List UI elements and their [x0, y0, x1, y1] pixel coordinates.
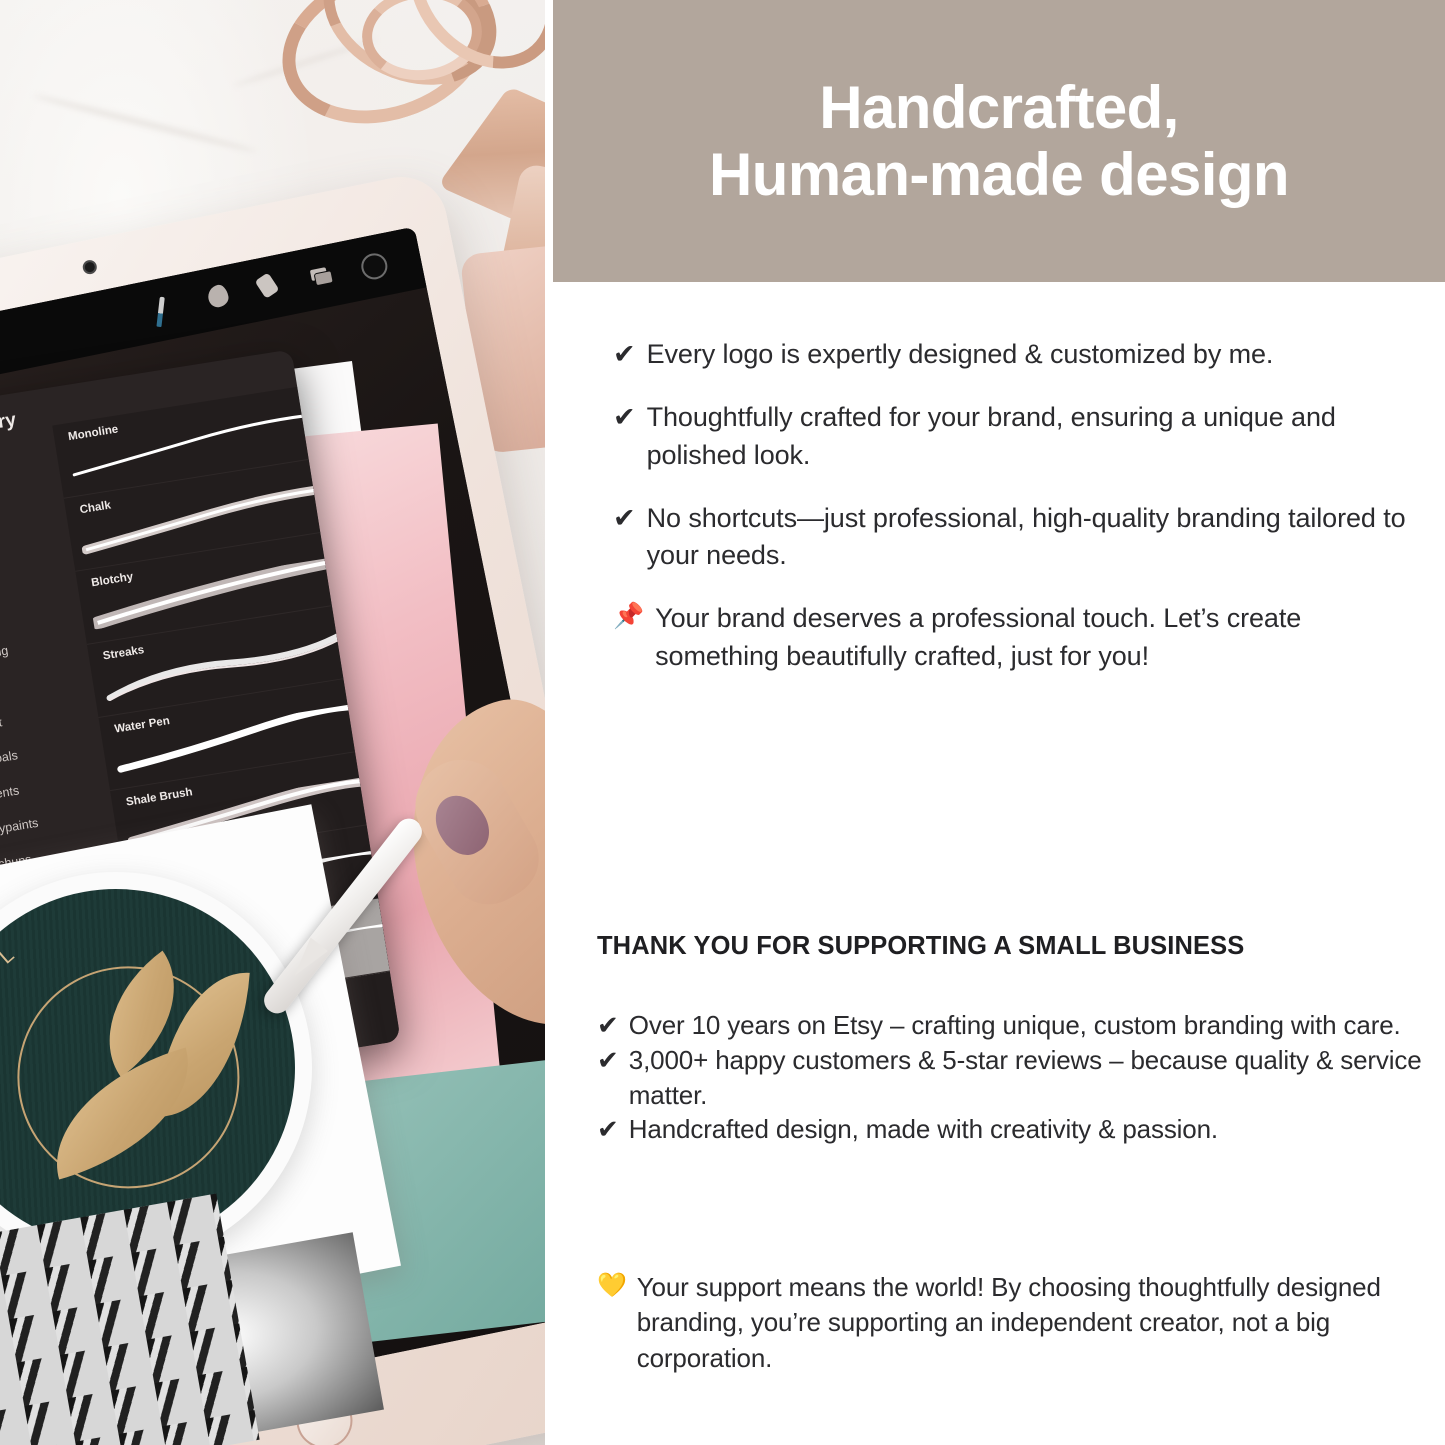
- check-icon: ✔: [613, 500, 636, 536]
- benefit-item: 📌Your brand deserves a professional touc…: [613, 600, 1413, 675]
- hero-line-2: Human-made design: [709, 141, 1289, 208]
- benefit-item: ✔No shortcuts—just professional, high-qu…: [613, 500, 1413, 575]
- credential-text: 3,000+ happy customers & 5-star reviews …: [629, 1043, 1427, 1113]
- brush-category-label: Elements: [0, 783, 20, 805]
- credential-item: ✔Handcrafted design, made with creativit…: [597, 1112, 1427, 1147]
- credentials-list: ✔Over 10 years on Etsy – crafting unique…: [597, 1008, 1427, 1147]
- benefits-list: ✔Every logo is expertly designed & custo…: [613, 336, 1413, 675]
- benefit-text: Your brand deserves a professional touch…: [655, 600, 1413, 675]
- marble-vein: [33, 92, 258, 154]
- listing-image: + Brush Library SketchingInkingCalligrap…: [0, 0, 1445, 1445]
- thanks-heading: THANK YOU FOR SUPPORTING A SMALL BUSINES…: [597, 932, 1427, 961]
- content-column: Handcrafted, Human-made design ✔Every lo…: [545, 0, 1445, 1445]
- layers-icon[interactable]: [309, 265, 335, 289]
- brush-category-label: Abstract: [0, 715, 3, 736]
- check-icon: ✔: [613, 336, 636, 372]
- brush-preset-label: Blotchy: [91, 571, 135, 589]
- benefit-text: Thoughtfully crafted for your brand, ens…: [647, 399, 1413, 474]
- benefit-item: ✔Thoughtfully crafted for your brand, en…: [613, 399, 1413, 474]
- spacer: [613, 474, 1413, 500]
- eraser-icon[interactable]: [257, 273, 284, 303]
- brush-category-label: Spraypaints: [0, 815, 39, 839]
- svg-text:MERAKI + BL: MERAKI + BL: [0, 937, 49, 1147]
- benefit-text: No shortcuts—just professional, high-qua…: [647, 500, 1413, 575]
- product-photo: + Brush Library SketchingInkingCalligrap…: [0, 0, 545, 1445]
- check-icon: ✔: [597, 1008, 619, 1043]
- hero-banner: Handcrafted, Human-made design: [553, 0, 1445, 282]
- yellow-heart-icon: 💛: [597, 1270, 627, 1302]
- hero-line-1: Handcrafted,: [819, 74, 1179, 141]
- smudge-icon[interactable]: [206, 283, 233, 313]
- spacer: [613, 373, 1413, 399]
- color-icon[interactable]: [359, 251, 390, 282]
- brush-preset-label: Monoline: [67, 423, 119, 443]
- credential-item: ✔3,000+ happy customers & 5-star reviews…: [597, 1043, 1427, 1113]
- credential-text: Over 10 years on Etsy – crafting unique,…: [629, 1008, 1401, 1043]
- spacer: [613, 574, 1413, 600]
- camera-icon: [82, 259, 99, 276]
- check-icon: ✔: [597, 1043, 619, 1078]
- check-icon: ✔: [613, 399, 636, 435]
- benefit-item: ✔Every logo is expertly designed & custo…: [613, 336, 1413, 373]
- brush-preset-label: Chalk: [79, 500, 112, 517]
- brush-icon[interactable]: [155, 293, 182, 323]
- brush-preset-label: Water Pen: [114, 715, 171, 736]
- brush-category-label: Airbrushing: [0, 643, 9, 667]
- credential-item: ✔Over 10 years on Etsy – crafting unique…: [597, 1008, 1427, 1043]
- body-content: ✔Every logo is expertly designed & custo…: [545, 282, 1445, 1445]
- brush-category-label: Charcoals: [0, 748, 19, 771]
- closing-paragraph: 💛 Your support means the world! By choos…: [597, 1270, 1427, 1376]
- bw-photo-pattern: [0, 1193, 260, 1445]
- closing-text: Your support means the world! By choosin…: [637, 1270, 1427, 1376]
- benefit-text: Every logo is expertly designed & custom…: [647, 336, 1274, 373]
- check-icon: ✔: [597, 1112, 619, 1147]
- brush-preset-label: Streaks: [102, 644, 145, 662]
- pin-icon: 📌: [613, 600, 644, 634]
- credential-text: Handcrafted design, made with creativity…: [629, 1112, 1218, 1147]
